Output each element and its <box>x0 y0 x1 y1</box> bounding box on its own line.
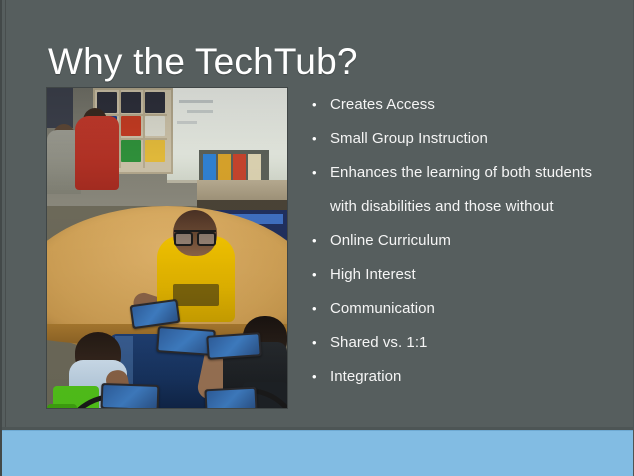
photo-background-person <box>47 88 73 128</box>
bullet-marker-icon: • <box>312 326 330 360</box>
slide-left-border <box>0 0 2 476</box>
slide-left-inner-line <box>5 0 6 430</box>
bullet-marker-icon: • <box>312 122 330 156</box>
bullet-text: Communication <box>330 292 622 326</box>
photo-tablet <box>206 332 262 360</box>
bullet-marker-icon: • <box>312 292 330 326</box>
photo-counter-shadow <box>197 200 287 210</box>
photo-student-glasses <box>174 230 216 242</box>
bullet-marker-icon: • <box>312 224 330 258</box>
classroom-photo <box>47 88 287 408</box>
photo-whiteboard-writing <box>177 121 197 124</box>
photo-tablet <box>204 387 257 408</box>
bullet-text: Shared vs. 1:1 <box>330 326 622 360</box>
photo-adult-red-shirt <box>75 116 119 190</box>
photo-book-rack <box>199 150 269 182</box>
bullet-marker-icon: • <box>312 156 330 190</box>
photo-whiteboard-writing <box>179 100 213 103</box>
bullet-item: •Online Curriculum <box>312 224 622 258</box>
bullet-item: •Integration <box>312 360 622 394</box>
bullet-marker-icon: • <box>312 88 330 122</box>
bullet-text: Integration <box>330 360 622 394</box>
bullet-marker-icon: • <box>312 360 330 394</box>
bullet-text: Online Curriculum <box>330 224 622 258</box>
bullet-text: Small Group Instruction <box>330 122 622 156</box>
bullet-text: Creates Access <box>330 88 622 122</box>
photo-wheelchair-green-frame <box>47 404 77 408</box>
bullet-item: •Enhances the learning of both students … <box>312 156 622 224</box>
presentation-slide: Why the TechTub? <box>0 0 634 476</box>
photo-canvas <box>47 88 287 408</box>
bottom-accent-band <box>2 430 633 476</box>
bullet-text: Enhances the learning of both students w… <box>330 156 622 224</box>
photo-counter <box>197 180 287 202</box>
bullet-item: •Small Group Instruction <box>312 122 622 156</box>
photo-tablet <box>101 383 160 408</box>
bullet-item: •Communication <box>312 292 622 326</box>
photo-shirt-graphic <box>173 284 219 306</box>
bullet-list: •Creates Access•Small Group Instruction•… <box>312 88 622 394</box>
bullet-item: •Creates Access <box>312 88 622 122</box>
bullet-item: •High Interest <box>312 258 622 292</box>
slide-title: Why the TechTub? <box>48 40 358 84</box>
bullet-text: High Interest <box>330 258 622 292</box>
bullet-item: •Shared vs. 1:1 <box>312 326 622 360</box>
bullet-marker-icon: • <box>312 258 330 292</box>
photo-whiteboard-writing <box>187 110 213 113</box>
